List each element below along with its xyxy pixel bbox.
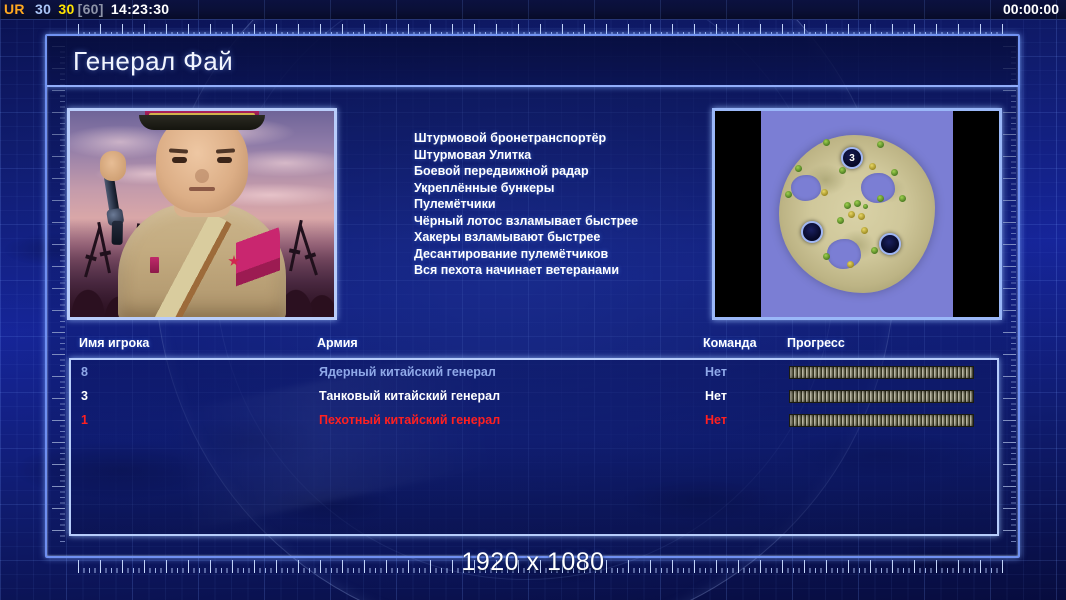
player-table-header: Имя игрока Армия Команда Прогресс [69, 336, 999, 356]
tree-icon [795, 165, 802, 172]
general-info-panel: Генерал Фай [45, 34, 1020, 558]
supply-icon [848, 211, 855, 218]
general-abilities-list: Штурмовой бронетранспортёр Штурмовая Ули… [414, 130, 714, 279]
panel-title-bar: Генерал Фай [47, 36, 1018, 87]
tree-icon [891, 169, 898, 176]
progress-bar [789, 414, 974, 427]
general-shoulder-cord [236, 207, 280, 319]
ability-item: Штурмовая Улитка [414, 147, 714, 164]
cell-player-name: 1 [81, 413, 88, 427]
gun-grip [112, 221, 123, 245]
tree-icon [854, 200, 861, 207]
rifle-icon [299, 225, 318, 275]
ability-item: Десантирование пулемётчиков [414, 246, 714, 263]
map-start-position: 3 [841, 147, 863, 169]
cell-team: Нет [705, 389, 727, 403]
map-start-position [801, 221, 823, 243]
tree-icon [839, 167, 846, 174]
map-preview: 3 [712, 108, 1002, 320]
cell-team: Нет [705, 365, 727, 379]
progress-bar [789, 390, 974, 403]
resolution-overlay: 1920 x 1080 [0, 548, 1066, 577]
tree-icon [877, 141, 884, 148]
map-canvas: 3 [761, 111, 953, 317]
eyebrow-right [216, 148, 235, 153]
general-torso [118, 203, 286, 320]
progress-bar [789, 366, 974, 379]
supply-icon [869, 163, 876, 170]
tree-icon [844, 202, 851, 209]
tree-icon [823, 253, 830, 260]
supply-icon [858, 213, 865, 220]
rifle-icon [289, 220, 303, 271]
tree-icon [863, 204, 868, 209]
cell-player-name: 8 [81, 365, 88, 379]
cell-player-name: 3 [81, 389, 88, 403]
general-medal [150, 257, 159, 273]
map-lake [791, 175, 821, 201]
supply-icon [847, 261, 854, 268]
column-header-player: Имя игрока [79, 336, 149, 350]
tree-icon [823, 139, 830, 146]
nose [195, 169, 209, 183]
tree-icon [785, 191, 792, 198]
mouth [189, 187, 215, 191]
cell-army: Ядерный китайский генерал [319, 365, 496, 379]
ability-item: Штурмовой бронетранспортёр [414, 130, 714, 147]
ability-item: Вся пехота начинает ветеранами [414, 262, 714, 279]
supply-icon [861, 227, 868, 234]
hud-fps-current: 30 [58, 1, 74, 17]
hud-ur-value: 30 [35, 1, 51, 17]
cell-army: Пехотный китайский генерал [319, 413, 500, 427]
ability-item: Укреплённые бункеры [414, 180, 714, 197]
map-resource-cluster [842, 200, 872, 228]
eye-left [172, 157, 187, 163]
general-hand [100, 151, 126, 181]
ability-item: Хакеры взламывают быстрее [414, 229, 714, 246]
eye-right [217, 157, 232, 163]
tree-icon [899, 195, 906, 202]
ability-item: Пулемётчики [414, 196, 714, 213]
tree-icon [837, 217, 844, 224]
general-peaked-cap [139, 108, 265, 135]
table-row[interactable]: 1 Пехотный китайский генерал Нет [71, 410, 997, 434]
tree-icon [877, 195, 884, 202]
eyebrow-left [169, 148, 188, 153]
ability-item: Боевой передвижной радар [414, 163, 714, 180]
hud-stats: UR 30 30[60] 14:23:30 [4, 1, 172, 17]
column-header-army: Армия [317, 336, 358, 350]
page-title: Генерал Фай [73, 46, 233, 77]
ability-item: Чёрный лотос взламывает быстрее [414, 213, 714, 230]
column-header-team: Команда [703, 336, 757, 350]
general-summary-row: Штурмовой бронетранспортёр Штурмовая Ули… [67, 108, 1002, 322]
map-lake [827, 239, 861, 269]
cell-army: Танковый китайский генерал [319, 389, 500, 403]
player-list-panel: 8 Ядерный китайский генерал Нет 3 Танков… [69, 358, 999, 536]
cap-brim [139, 115, 265, 130]
map-start-position [879, 233, 901, 255]
hud-bar: UR 30 30[60] 14:23:30 00:00:00 [0, 0, 1066, 20]
table-row[interactable]: 8 Ядерный китайский генерал Нет [71, 362, 997, 386]
hud-fps-max: [60] [78, 1, 104, 17]
hud-timer: 00:00:00 [1003, 1, 1059, 17]
hud-ur-label: UR [4, 1, 25, 17]
hud-clock: 14:23:30 [111, 1, 169, 17]
column-header-progress: Прогресс [787, 336, 845, 350]
hud-ur-suffix [28, 1, 32, 17]
supply-icon [821, 189, 828, 196]
general-portrait [67, 108, 337, 320]
cell-team: Нет [705, 413, 727, 427]
tree-icon [871, 247, 878, 254]
table-row[interactable]: 3 Танковый китайский генерал Нет [71, 386, 997, 410]
